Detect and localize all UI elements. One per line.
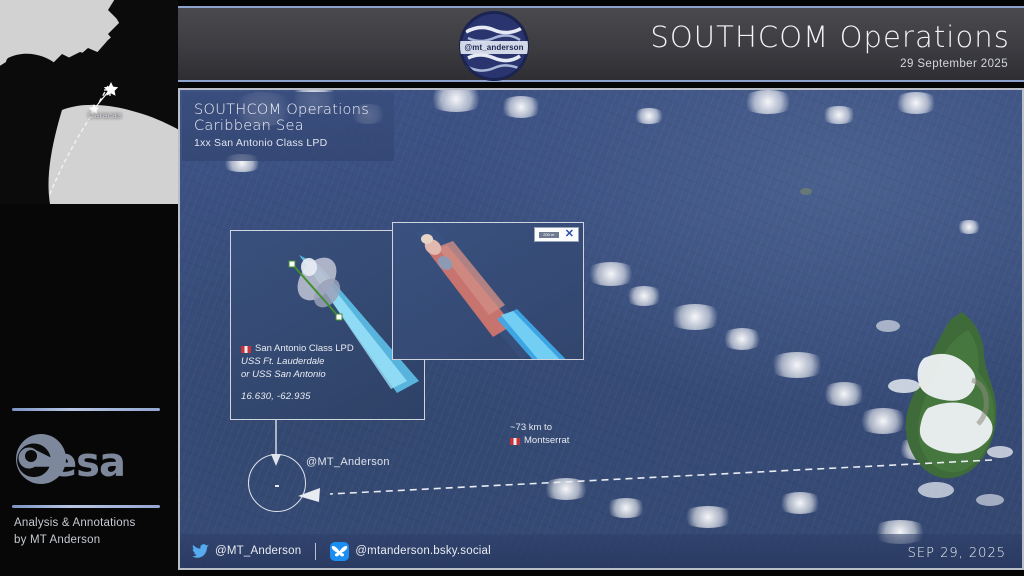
- screenshot-root: Caracas esa Analysis & Annotations by MT…: [0, 0, 1024, 576]
- svg-text:esa: esa: [50, 440, 125, 486]
- satellite-caption: SOUTHCOM Operations Caribbean Sea 1xx Sa…: [182, 92, 394, 161]
- vessel-coordinates: 16.630, -62.935: [241, 391, 354, 404]
- callout-circle: [248, 454, 306, 512]
- header-date: 29 September 2025: [900, 58, 1008, 70]
- map-city-label: Caracas: [88, 110, 122, 120]
- caption-line-3: 1xx San Antonio Class LPD: [194, 137, 382, 149]
- locator-map: Caracas: [0, 0, 178, 204]
- brand-badge: @mt_anderson: [460, 12, 528, 80]
- credit-line-2: by MT Anderson: [14, 532, 174, 549]
- sidebar-divider-top: [12, 408, 160, 411]
- montserrat-flag-icon: [510, 438, 520, 445]
- brand-handle: @mt_anderson: [460, 41, 528, 54]
- credit-line-1: Analysis & Annotations: [14, 515, 174, 532]
- esa-logo: esa: [14, 432, 164, 486]
- distance-note-line-2: Montserrat: [524, 435, 569, 448]
- inset-zoom-detail[interactable]: 200 m ✕: [392, 222, 584, 360]
- social-divider: [315, 543, 316, 560]
- us-navy-flag-icon: [241, 346, 251, 353]
- caption-line-2: Caribbean Sea: [194, 118, 382, 134]
- credit-block: Analysis & Annotations by MT Anderson: [14, 515, 174, 548]
- social-bar: @MT_Anderson @mtanderson.bsky.social: [180, 534, 1024, 568]
- distance-note-line-1: ~73 km to: [510, 422, 569, 435]
- bluesky-handle-item[interactable]: @mtanderson.bsky.social: [330, 542, 491, 561]
- sidebar-divider-bottom: [12, 505, 160, 508]
- page-title: SOUTHCOM Operations: [650, 20, 1010, 54]
- caption-line-1: SOUTHCOM Operations: [194, 102, 382, 118]
- twitter-handle-item[interactable]: @MT_Anderson: [192, 544, 301, 558]
- vessel-dot: [275, 485, 279, 487]
- satellite-image-panel: @MT_Anderson ~73 km to Montserrat SOUTHC…: [178, 88, 1024, 570]
- vessel-name-1: USS Ft. Lauderdale: [241, 356, 354, 369]
- header-bar: @mt_anderson SOUTHCOM Operations 29 Sept…: [178, 6, 1024, 82]
- scalebar-icon: 200 m: [539, 232, 559, 238]
- twitter-bird-icon: [192, 544, 209, 558]
- bluesky-handle: @mtanderson.bsky.social: [355, 545, 491, 557]
- twitter-handle: @MT_Anderson: [215, 545, 301, 557]
- distance-note: ~73 km to Montserrat: [510, 422, 569, 448]
- inset-zoom-toolbar[interactable]: 200 m ✕: [534, 227, 579, 242]
- date-stamp: SEP 29, 2025: [908, 546, 1006, 561]
- sidebar: Caracas esa Analysis & Annotations by MT…: [0, 0, 178, 576]
- watermark: @MT_Anderson: [306, 456, 390, 468]
- close-icon[interactable]: ✕: [565, 229, 574, 240]
- bluesky-butterfly-icon: [330, 542, 349, 561]
- vessel-annotation: San Antonio Class LPD USS Ft. Lauderdale…: [241, 343, 354, 404]
- vessel-name-2: or USS San Antonio: [241, 369, 354, 382]
- vessel-class: San Antonio Class LPD: [255, 343, 354, 356]
